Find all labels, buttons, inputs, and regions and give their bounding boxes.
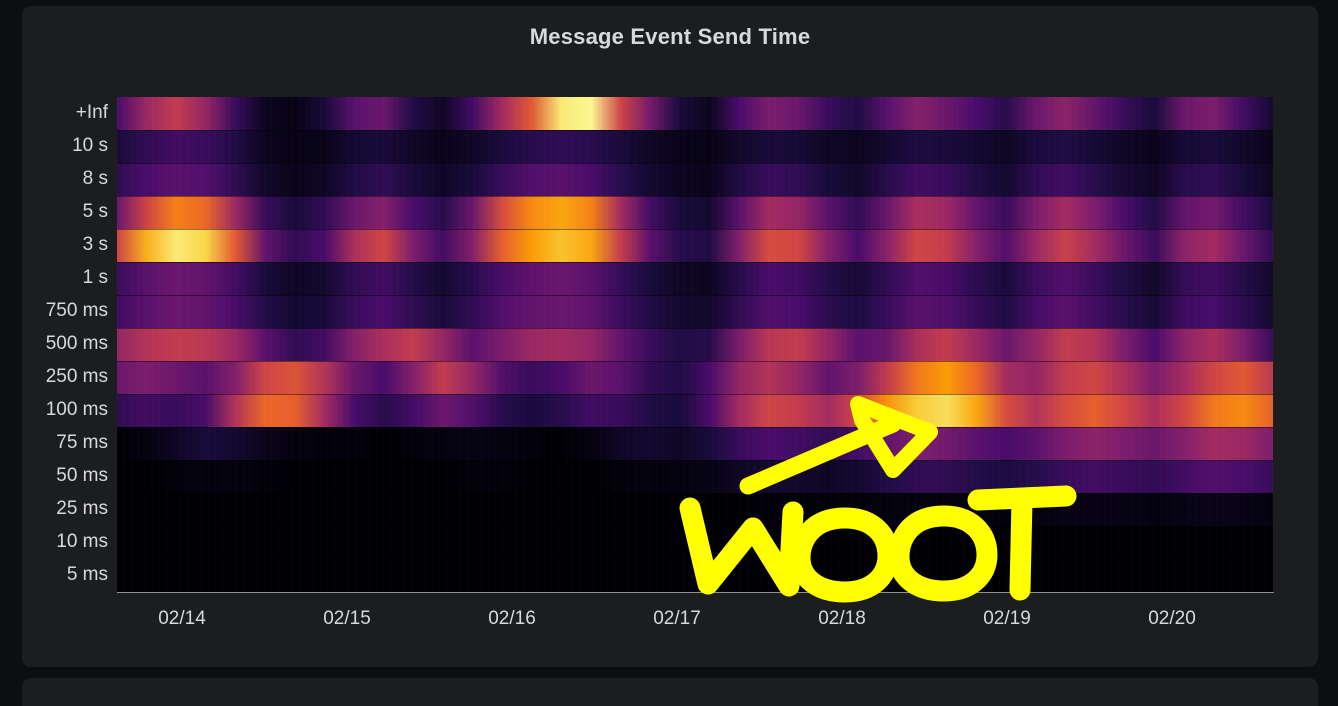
heatmap-row bbox=[117, 526, 1273, 560]
y-axis-tick-label: 100 ms bbox=[0, 399, 108, 421]
x-axis-tick-label: 02/20 bbox=[1148, 608, 1196, 630]
heatmap-row bbox=[117, 559, 1273, 593]
heatmap-row bbox=[117, 130, 1273, 164]
heatmap-row bbox=[117, 460, 1273, 494]
y-axis-tick-label: 5 ms bbox=[0, 564, 108, 586]
y-axis-tick-label: 8 s bbox=[0, 168, 108, 190]
y-axis-tick-label: 50 ms bbox=[0, 465, 108, 487]
heatmap-row bbox=[117, 295, 1273, 329]
x-axis-tick-label: 02/14 bbox=[158, 608, 206, 630]
y-axis-tick-label: 5 s bbox=[0, 201, 108, 223]
heatmap[interactable] bbox=[117, 97, 1273, 592]
x-axis-tick-label: 02/16 bbox=[488, 608, 536, 630]
x-axis-tick-label: 02/17 bbox=[653, 608, 701, 630]
y-axis-tick-label: 750 ms bbox=[0, 300, 108, 322]
heatmap-row bbox=[117, 262, 1273, 296]
heatmap-row bbox=[117, 229, 1273, 263]
x-axis-tick-label: 02/15 bbox=[323, 608, 371, 630]
heatmap-row bbox=[117, 493, 1273, 527]
y-axis-tick-label: 25 ms bbox=[0, 498, 108, 520]
heatmap-row bbox=[117, 97, 1273, 131]
x-axis-tick-label: 02/18 bbox=[818, 608, 866, 630]
y-axis-tick-label: 250 ms bbox=[0, 366, 108, 388]
heatmap-row bbox=[117, 163, 1273, 197]
x-axis-line bbox=[117, 592, 1274, 593]
y-axis-labels: +Inf10 s8 s5 s3 s1 s750 ms500 ms250 ms10… bbox=[0, 0, 117, 706]
y-axis-tick-label: 3 s bbox=[0, 234, 108, 256]
heatmap-row bbox=[117, 427, 1273, 461]
y-axis-tick-label: 500 ms bbox=[0, 333, 108, 355]
heatmap-row bbox=[117, 361, 1273, 395]
next-panel-partial bbox=[22, 678, 1318, 706]
y-axis-tick-label: 1 s bbox=[0, 267, 108, 289]
page-title: Message Event Send Time bbox=[22, 24, 1318, 50]
y-axis-tick-label: 75 ms bbox=[0, 432, 108, 454]
y-axis-tick-label: +Inf bbox=[0, 102, 108, 124]
screen: Message Event Send Time +Inf10 s8 s5 s3 … bbox=[0, 0, 1338, 706]
heatmap-row bbox=[117, 328, 1273, 362]
heatmap-row bbox=[117, 196, 1273, 230]
heatmap-row bbox=[117, 394, 1273, 428]
x-axis-tick-label: 02/19 bbox=[983, 608, 1031, 630]
y-axis-tick-label: 10 s bbox=[0, 135, 108, 157]
y-axis-tick-label: 10 ms bbox=[0, 531, 108, 553]
